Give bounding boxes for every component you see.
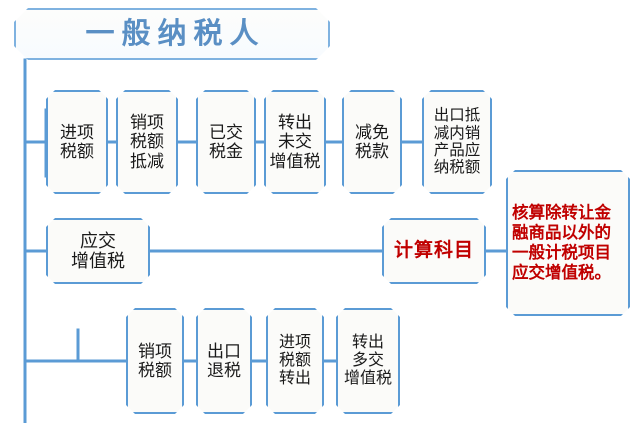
node-b-chukou-tuishui[interactable]: 出口 退税: [196, 308, 252, 414]
node-label: 销项 税额 抵减: [128, 113, 166, 170]
node-chukou-dijian-neixiao[interactable]: 出口抵 减内销 产品应 纳税额: [422, 90, 492, 194]
node-label: 进项 税额: [58, 123, 96, 161]
node-label: 转出 未交 增值税: [268, 113, 323, 170]
node-yijiao-shuijin[interactable]: 已交 税金: [196, 90, 256, 194]
node-jisuan-kemu[interactable]: 计算科目: [382, 218, 486, 284]
node-b-xiaoxiang-shuie[interactable]: 销项 税额: [126, 308, 184, 414]
node-label: 减免 税款: [353, 123, 391, 161]
page-title: 一般纳税人: [14, 8, 330, 60]
node-label: 进项 税额 转出: [277, 334, 313, 388]
diagram-canvas: 一般纳税人 进项 税额 销项 税额 抵减 已交 税金 转出 未交 增值税 减免 …: [0, 0, 640, 423]
node-yingjiao-zengzhishui[interactable]: 应交 增值税: [46, 218, 150, 284]
node-label: 销项 税额: [136, 342, 174, 380]
node-label: 计算科目: [392, 240, 476, 261]
node-label: 应交 增值税: [69, 231, 127, 271]
node-label: 出口抵 减内销 产品应 纳税额: [432, 107, 483, 176]
note-text: 核算除转让金融商品以外的一般计税项目应交增值税。: [508, 203, 628, 284]
node-b-jinxiang-shuie-zhuanchu[interactable]: 进项 税额 转出: [266, 308, 324, 414]
node-label: 出口 退税: [205, 342, 243, 380]
page-title-text: 一般纳税人: [76, 18, 267, 50]
node-xiaoxiang-shuie-dijian[interactable]: 销项 税额 抵减: [116, 90, 178, 194]
node-label: 转出 多交 增值税: [342, 334, 394, 388]
node-label: 已交 税金: [207, 123, 245, 161]
note-hesuan: 核算除转让金融商品以外的一般计税项目应交增值税。: [506, 170, 630, 316]
node-jianmian-shuikuan[interactable]: 减免 税款: [342, 90, 402, 194]
node-b-zhuanchu-duojiao-zengzhishui[interactable]: 转出 多交 增值税: [336, 308, 400, 414]
node-jinxiang-shuie[interactable]: 进项 税额: [46, 90, 108, 194]
node-zhuanchu-weijiao-zengzhishui[interactable]: 转出 未交 增值税: [264, 90, 326, 194]
